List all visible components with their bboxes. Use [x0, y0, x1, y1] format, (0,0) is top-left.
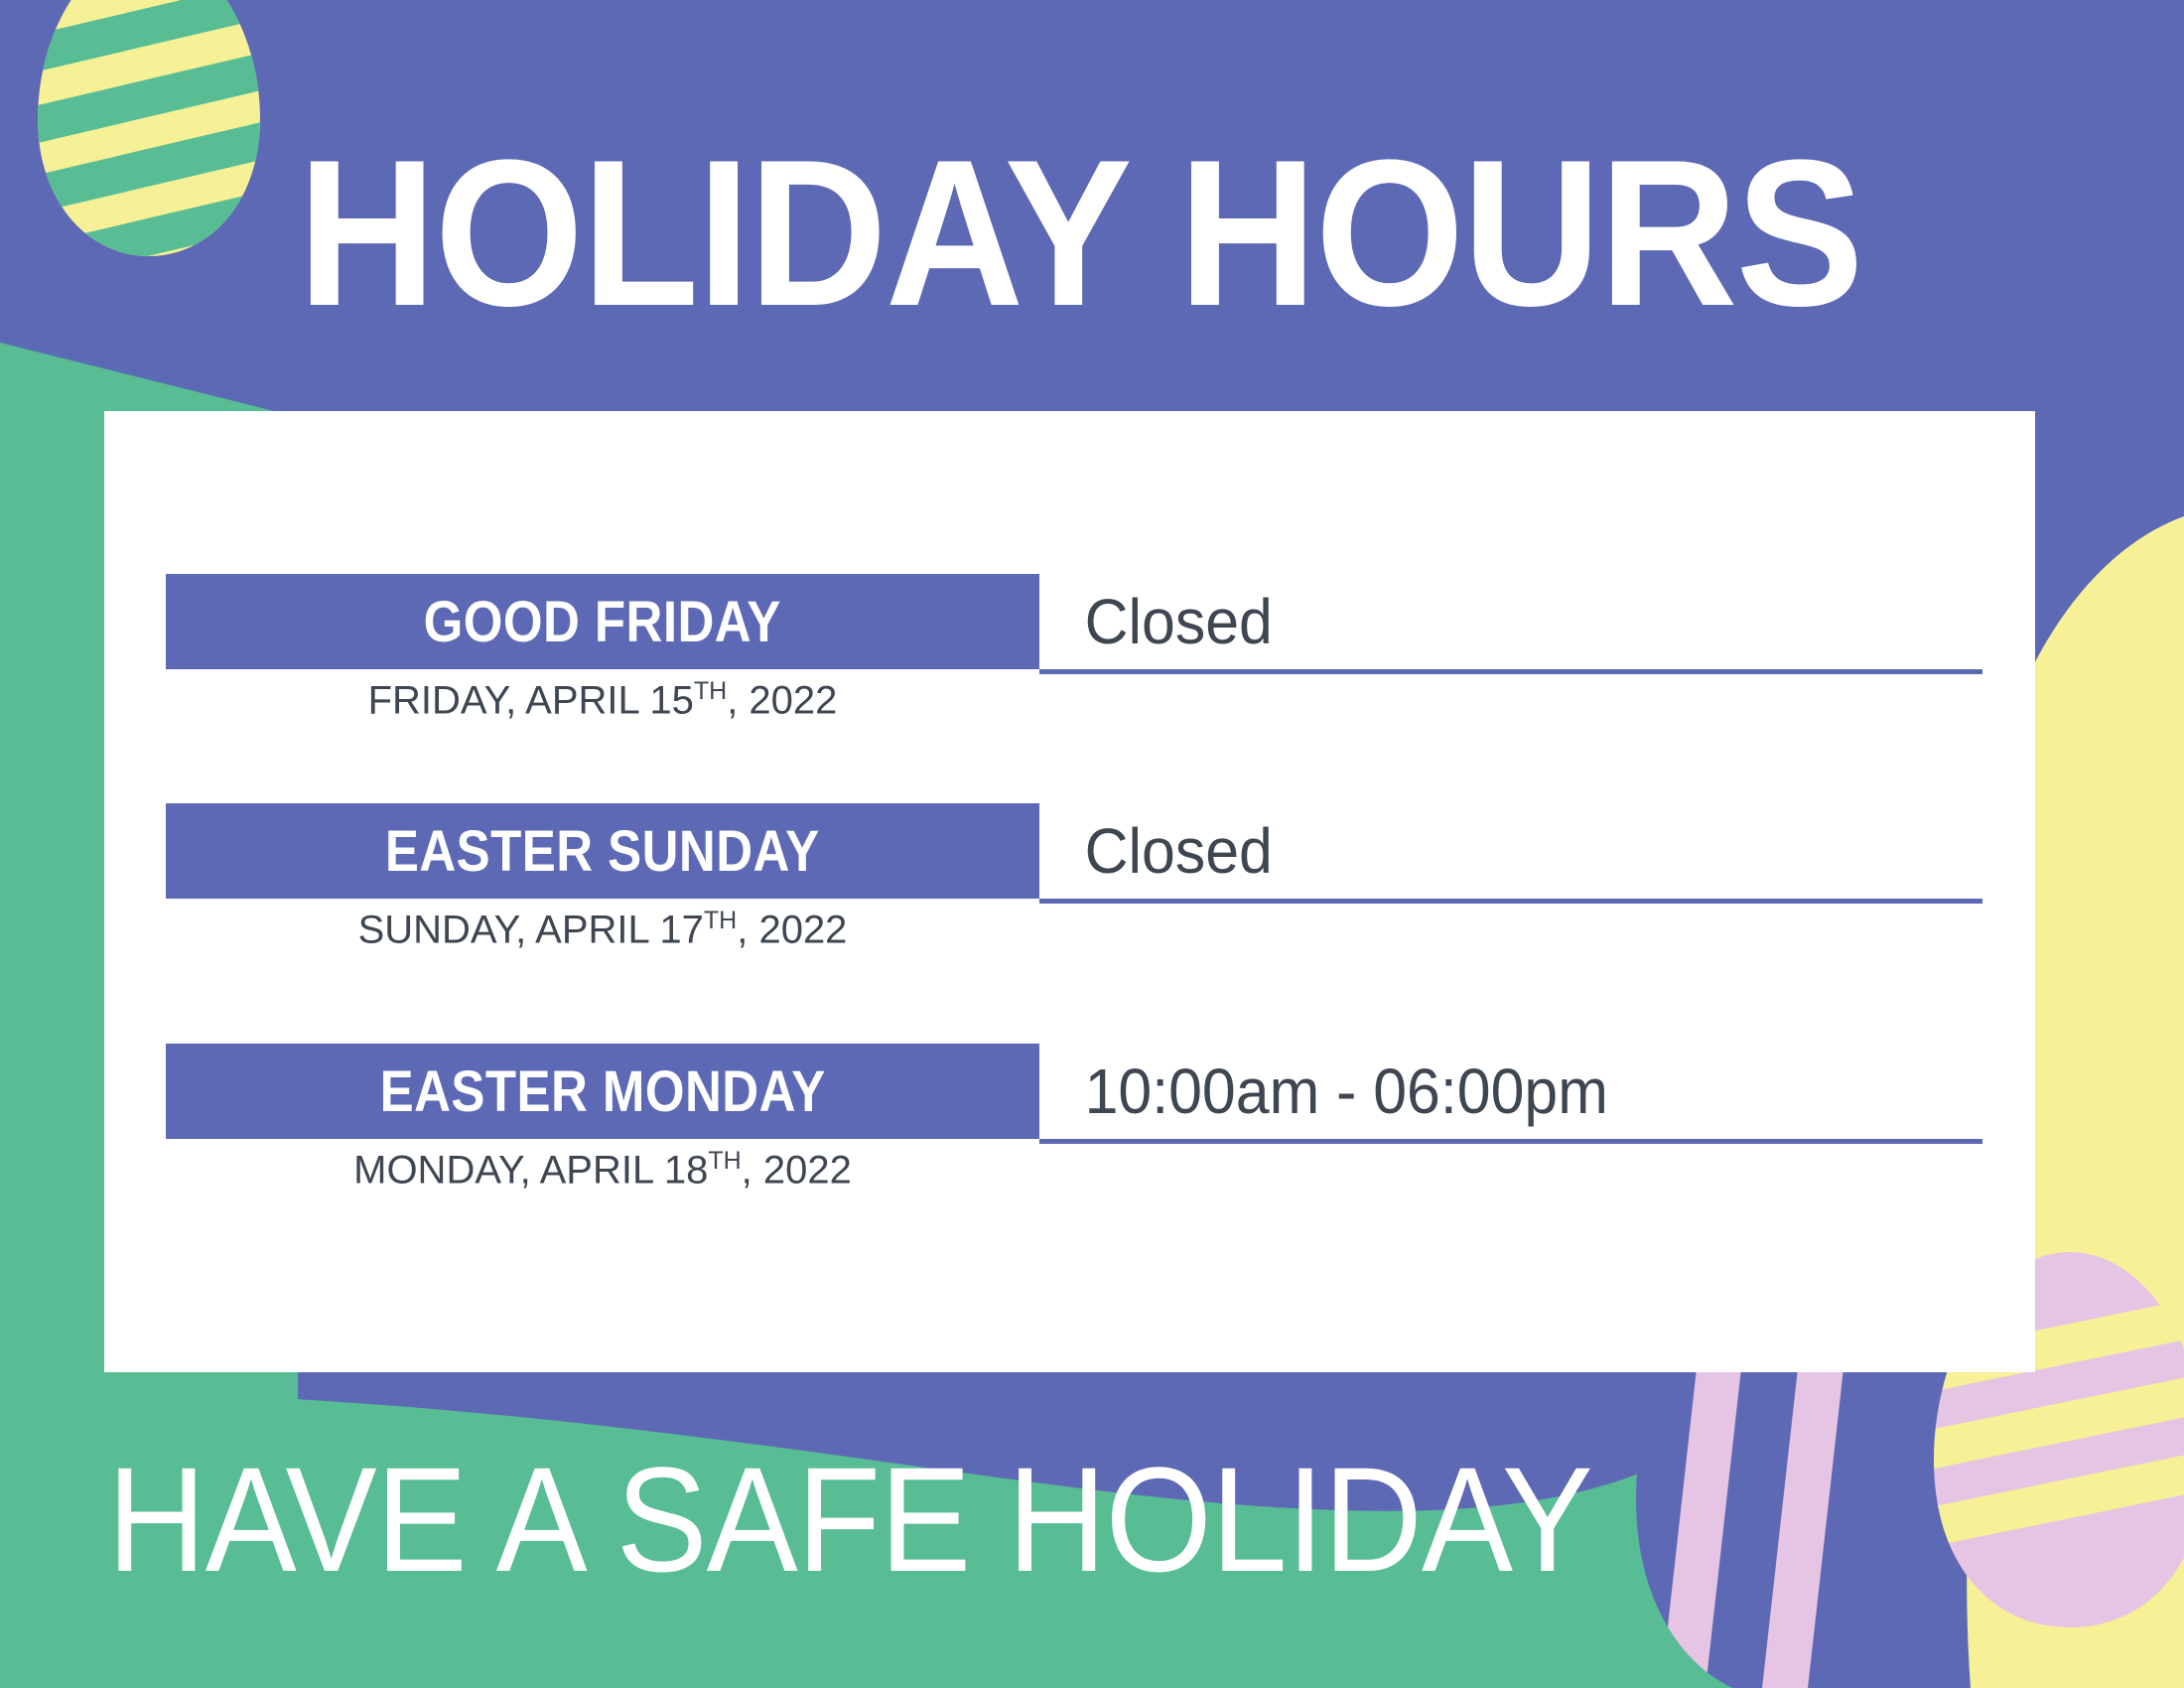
holiday-name-bar: EASTER SUNDAY [166, 803, 1039, 899]
footer-message: HAVE A SAFE HOLIDAY [107, 1445, 1592, 1594]
holiday-date-suffix: , 2022 [742, 1148, 852, 1192]
holiday-date: SUNDAY, APRIL 17TH, 2022 [166, 907, 1039, 952]
holiday-date-suffix: , 2022 [737, 908, 847, 951]
holiday-date-prefix: SUNDAY, APRIL 17 [358, 908, 704, 951]
holiday-date: FRIDAY, APRIL 15TH, 2022 [166, 677, 1039, 723]
holiday-hours-poster: HOLIDAY HOURS GOOD FRIDAY Closed FRIDAY,… [0, 0, 2184, 1688]
holiday-hours: Closed [1039, 814, 1273, 888]
holiday-name-bar: GOOD FRIDAY [166, 574, 1039, 669]
holiday-date-ordinal: TH [694, 677, 727, 705]
hours-underline: Closed [1039, 574, 1982, 674]
hours-underline: 10:00am - 06:00pm [1039, 1044, 1982, 1144]
easter-egg-yellow-icon [10, 0, 288, 268]
holiday-name: EASTER SUNDAY [385, 818, 820, 885]
holiday-date-suffix: , 2022 [727, 678, 837, 722]
page-title: HOLIDAY HOURS [298, 129, 1862, 338]
holiday-date-prefix: MONDAY, APRIL 18 [353, 1148, 708, 1192]
holiday-date-prefix: FRIDAY, APRIL 15 [368, 678, 694, 722]
schedule-card: GOOD FRIDAY Closed FRIDAY, APRIL 15TH, 2… [104, 411, 2035, 1372]
holiday-name: GOOD FRIDAY [424, 589, 781, 655]
holiday-name: EASTER MONDAY [379, 1058, 825, 1125]
holiday-hours: Closed [1039, 585, 1273, 658]
holiday-date-ordinal: TH [704, 907, 737, 934]
holiday-name-bar: EASTER MONDAY [166, 1044, 1039, 1139]
holiday-date-ordinal: TH [708, 1147, 741, 1175]
holiday-date: MONDAY, APRIL 18TH, 2022 [166, 1147, 1039, 1193]
holiday-hours: 10:00am - 06:00pm [1039, 1055, 1608, 1128]
hours-underline: Closed [1039, 803, 1982, 904]
